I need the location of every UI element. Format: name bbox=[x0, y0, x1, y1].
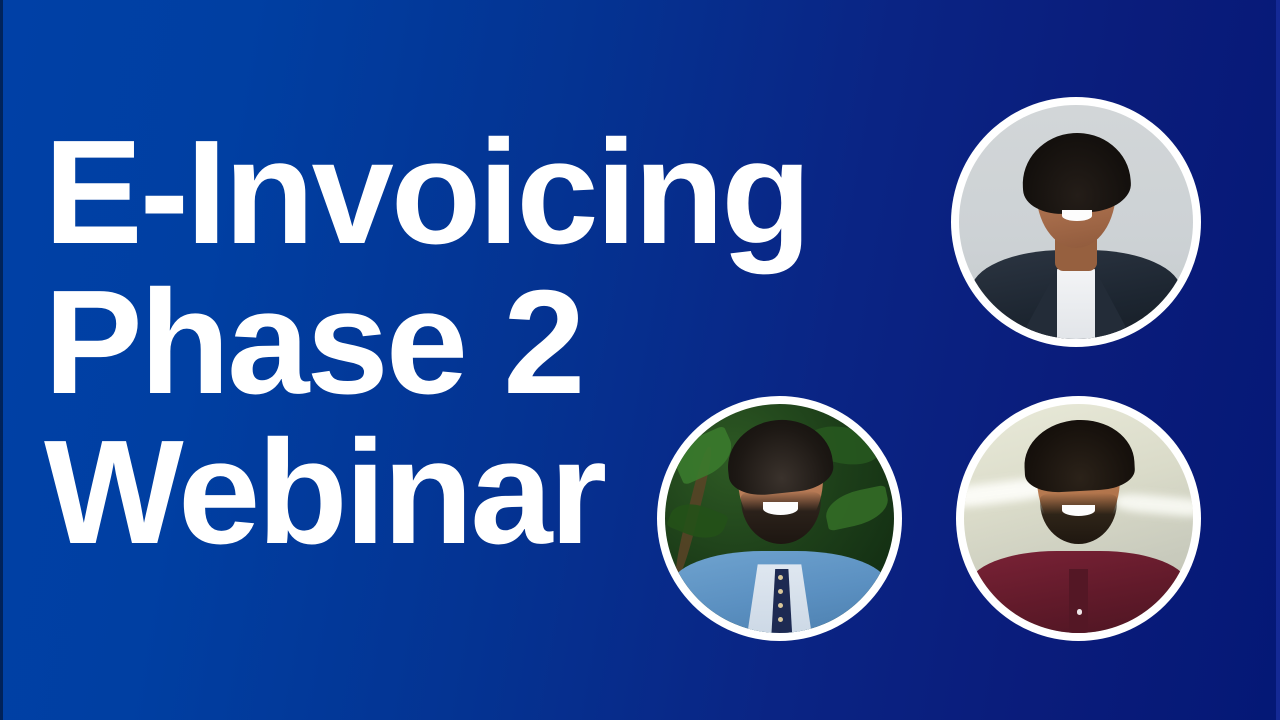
smile bbox=[763, 502, 797, 515]
shirt-placket bbox=[1069, 569, 1087, 633]
avatar-speaker-1 bbox=[951, 97, 1201, 347]
beard bbox=[741, 491, 821, 544]
right-edge-strip bbox=[1276, 0, 1280, 720]
hair bbox=[1022, 417, 1135, 494]
smile bbox=[1062, 210, 1092, 221]
headline-line-2: Phase 2 bbox=[44, 268, 684, 418]
leaf bbox=[822, 485, 892, 532]
webinar-title-slide: E-Invoicing Phase 2 Webinar bbox=[0, 0, 1280, 720]
headline-line-1: E-Invoicing bbox=[44, 118, 684, 268]
avatar-photo-speaker-1 bbox=[959, 105, 1193, 339]
beard bbox=[1040, 493, 1118, 543]
tie-dot bbox=[778, 617, 783, 622]
avatar-speaker-2 bbox=[657, 396, 902, 641]
avatar-photo-speaker-2 bbox=[665, 404, 894, 633]
background-blur bbox=[1115, 492, 1193, 518]
avatar-photo-speaker-3 bbox=[964, 404, 1193, 633]
shirt-button bbox=[1077, 609, 1082, 614]
tie-dot bbox=[778, 603, 783, 608]
hair bbox=[1020, 129, 1133, 216]
avatar-speaker-3 bbox=[956, 396, 1201, 641]
headline-line-3: Webinar bbox=[44, 418, 684, 568]
left-edge-strip bbox=[0, 0, 3, 720]
slide-headline: E-Invoicing Phase 2 Webinar bbox=[44, 118, 684, 568]
